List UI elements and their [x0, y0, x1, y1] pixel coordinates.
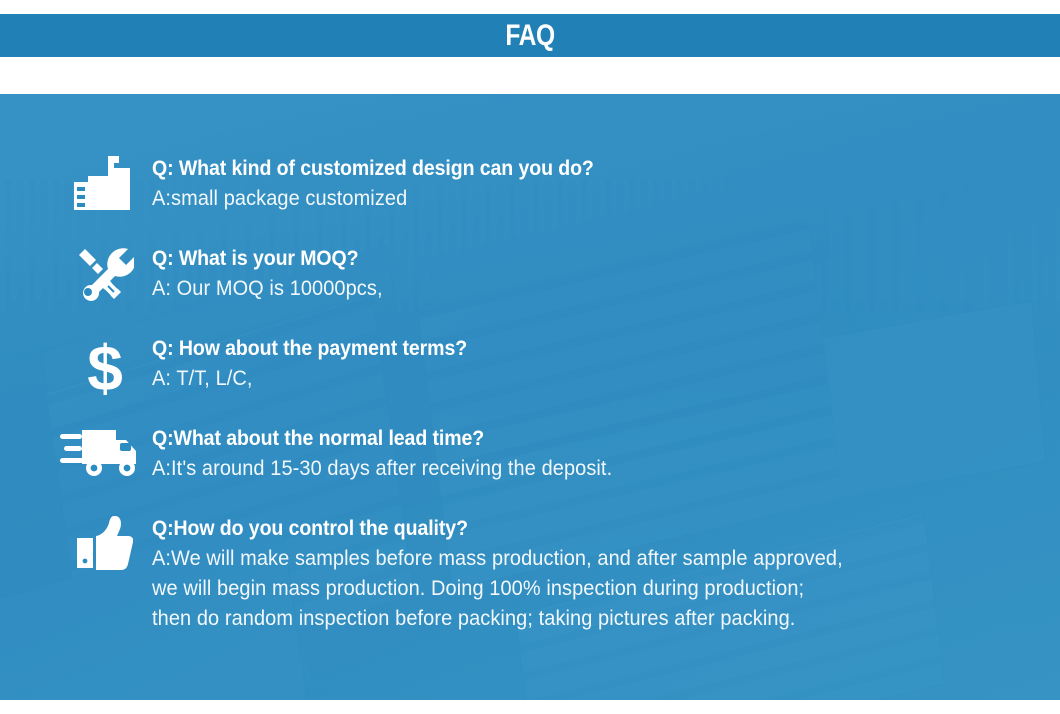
svg-text:$: $ [87, 336, 123, 398]
faq-list: Q: What kind of customized design can yo… [0, 94, 1060, 146]
faq-question: Q: What kind of customized design can yo… [152, 154, 594, 184]
faq-answer: A:We will make samples before mass produ… [152, 544, 843, 634]
faq-answer: A: Our MOQ is 10000pcs, [152, 274, 383, 304]
header-bar: FAQ [0, 14, 1060, 57]
faq-question: Q: How about the payment terms? [152, 334, 467, 364]
faq-answer-line: A: T/T, L/C, [152, 364, 474, 394]
faq-answer-line: A: Our MOQ is 10000pcs, [152, 274, 383, 304]
faq-item: Q: What kind of customized design can yo… [62, 154, 627, 214]
faq-answer: A:small package customized [152, 184, 603, 214]
faq-question: Q:How do you control the quality? [152, 514, 828, 544]
faq-question: Q:What about the normal lead time? [152, 424, 603, 454]
faq-text: Q: What is your MOQ? A: Our MOQ is 10000… [148, 244, 395, 304]
delivery-truck-icon [56, 424, 148, 478]
faq-question: Q: What is your MOQ? [152, 244, 378, 274]
faq-answer-line: we will begin mass production. Doing 100… [152, 574, 843, 604]
faq-answer-line: A:It's around 15-30 days after receiving… [152, 454, 612, 484]
faq-text: Q: How about the payment terms? A: T/T, … [148, 334, 491, 394]
tools-wrench-screwdriver-icon [62, 244, 148, 304]
page-title: FAQ [505, 21, 554, 51]
faq-text: Q:What about the normal lead time? A:It'… [148, 424, 636, 484]
faq-text: Q: What kind of customized design can yo… [148, 154, 627, 214]
faq-text: Q:How do you control the quality? A:We w… [148, 514, 879, 634]
faq-answer-line: A:small package customized [152, 184, 603, 214]
dollar-sign-icon: $ [62, 334, 148, 398]
faq-answer-line: then do random inspection before packing… [152, 604, 843, 634]
faq-answer: A: T/T, L/C, [152, 364, 474, 394]
thumbs-up-icon [62, 514, 148, 570]
faq-answer-line: A:We will make samples before mass produ… [152, 544, 843, 574]
faq-answer: A:It's around 15-30 days after receiving… [152, 454, 612, 484]
faq-panel: Q: What kind of customized design can yo… [0, 94, 1060, 700]
faq-item: Q:What about the normal lead time? A:It'… [56, 424, 636, 484]
bottom-white-strip [0, 700, 1060, 714]
faq-item: Q:How do you control the quality? A:We w… [62, 514, 879, 634]
faq-item: Q: What is your MOQ? A: Our MOQ is 10000… [62, 244, 395, 304]
faq-page: FAQ [0, 0, 1060, 714]
factory-building-icon [62, 154, 148, 210]
faq-item: $ Q: How about the payment terms? A: T/T… [62, 334, 491, 398]
